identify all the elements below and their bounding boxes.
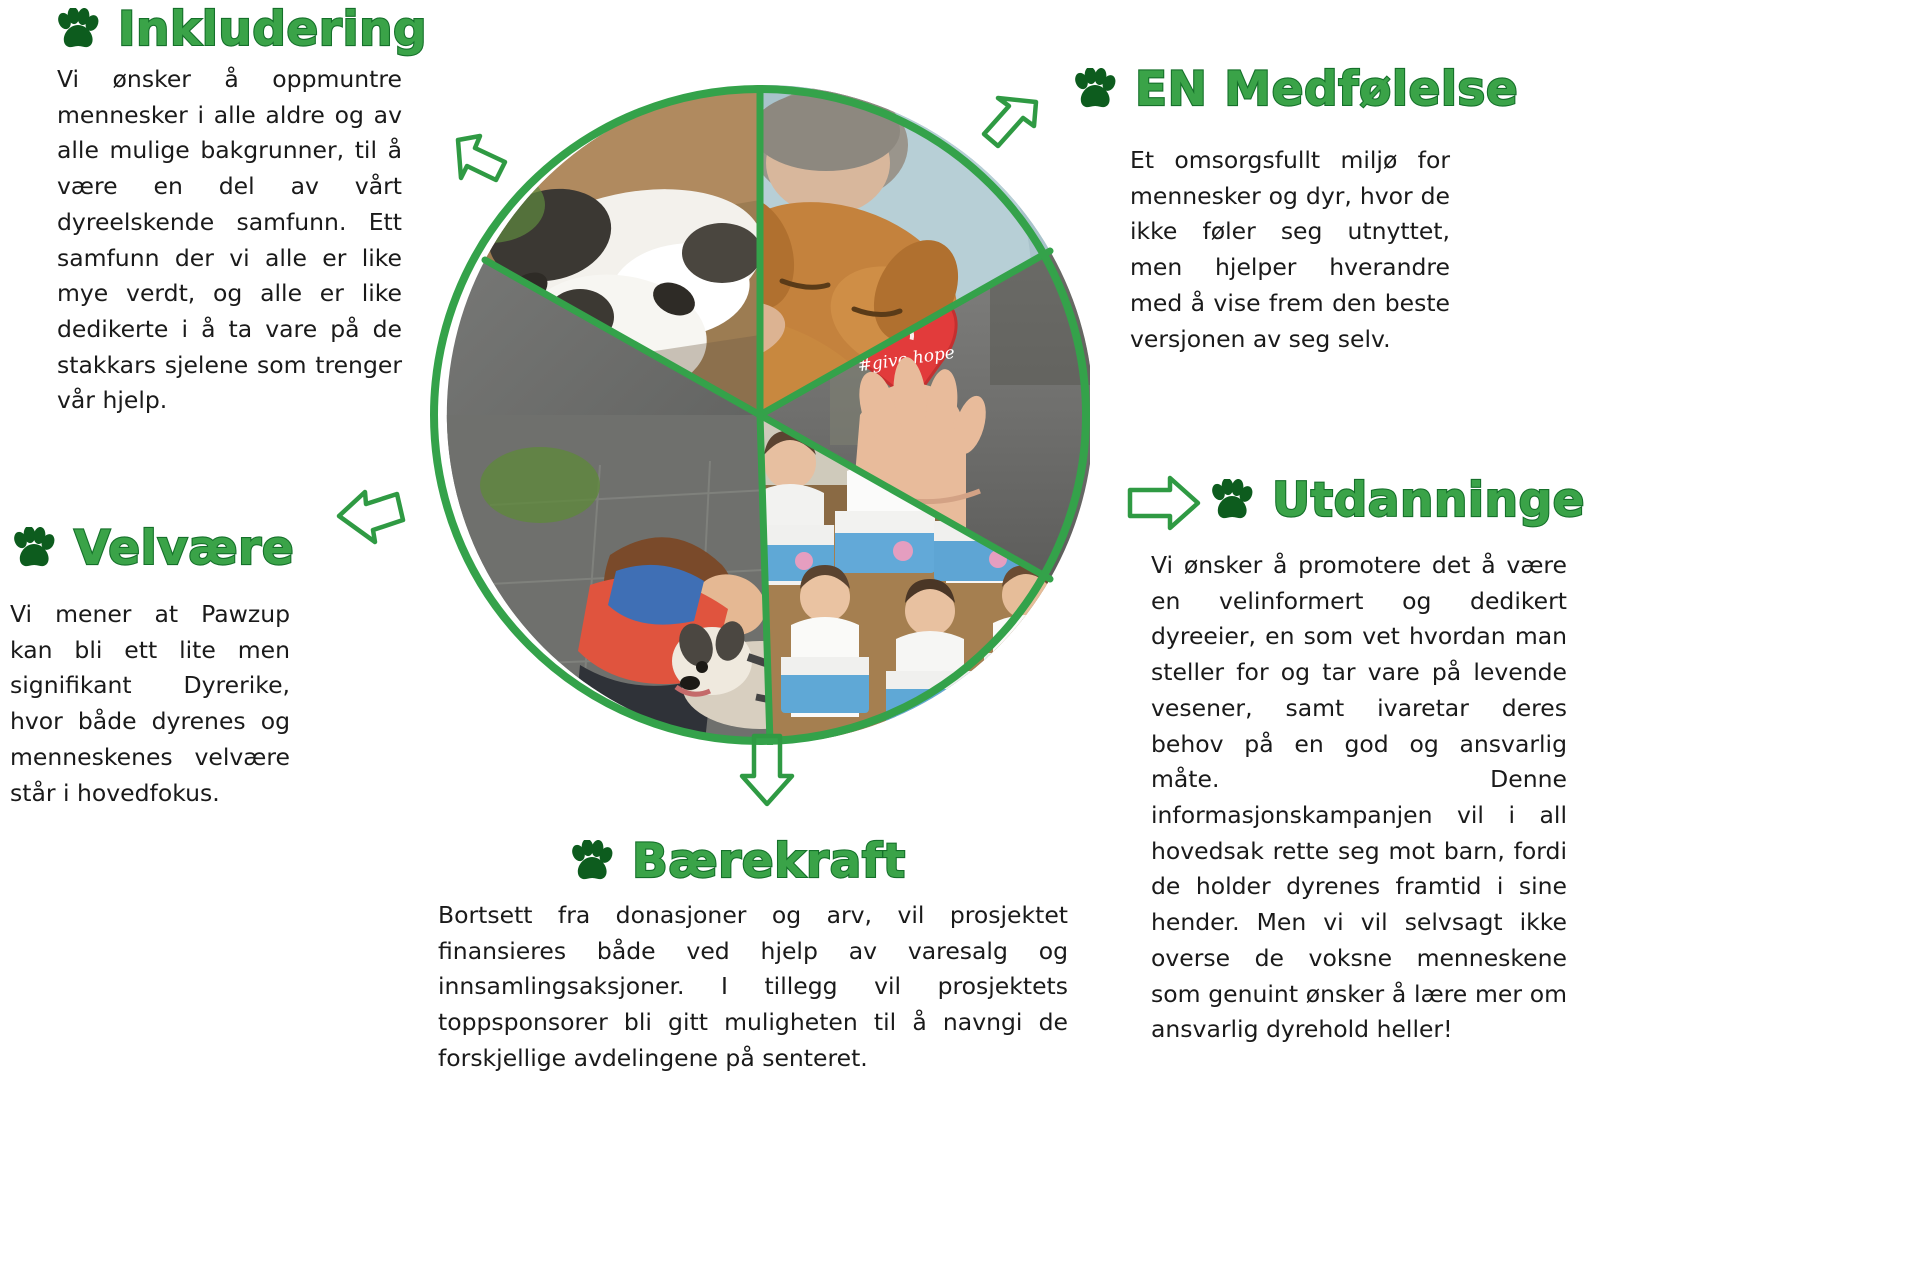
- heading-baerekraft-text: Bærekraft: [632, 838, 906, 885]
- arrow-right-icon: [1126, 472, 1202, 539]
- paw-icon: [566, 840, 614, 884]
- heading-medfolelse: EN Medfølelse: [1069, 66, 1518, 113]
- heading-utdanninge-text: Utdanninge: [1272, 477, 1585, 524]
- paragraph-baerekraft: Bortsett fra donasjoner og arv, vil pros…: [438, 898, 1068, 1077]
- infographic-canvas: #give hope: [0, 0, 1920, 1270]
- paragraph-inkludering: Vi ønsker å oppmuntre mennesker i alle a…: [57, 62, 402, 419]
- heading-medfolelse-text: EN Medfølelse: [1135, 66, 1518, 113]
- paw-icon: [1069, 68, 1117, 112]
- heading-baerekraft: Bærekraft: [566, 838, 906, 885]
- paw-icon: [52, 8, 100, 52]
- photo-wheel: #give hope: [430, 85, 1090, 745]
- paragraph-medfolelse: Et omsorgsfullt miljø for mennesker og d…: [1130, 143, 1450, 357]
- arrow-up-left-icon: [448, 128, 518, 203]
- paw-icon: [8, 527, 56, 571]
- paragraph-utdanninge: Vi ønsker å promotere det å være en veli…: [1151, 548, 1567, 1048]
- arrow-left-icon: [335, 478, 410, 553]
- paragraph-velvaere: Vi mener at Pawzup kan bli ett lite men …: [10, 597, 290, 811]
- heading-velvaere-text: Velvære: [74, 525, 294, 572]
- paw-icon: [1206, 479, 1254, 523]
- heading-inkludering-text: Inkludering: [118, 6, 427, 53]
- heading-inkludering: Inkludering: [52, 6, 427, 53]
- heading-velvaere: Velvære: [8, 525, 294, 572]
- arrow-down-icon: [736, 732, 798, 813]
- heading-utdanninge: Utdanninge: [1206, 477, 1585, 524]
- arrow-up-right-icon: [978, 92, 1048, 167]
